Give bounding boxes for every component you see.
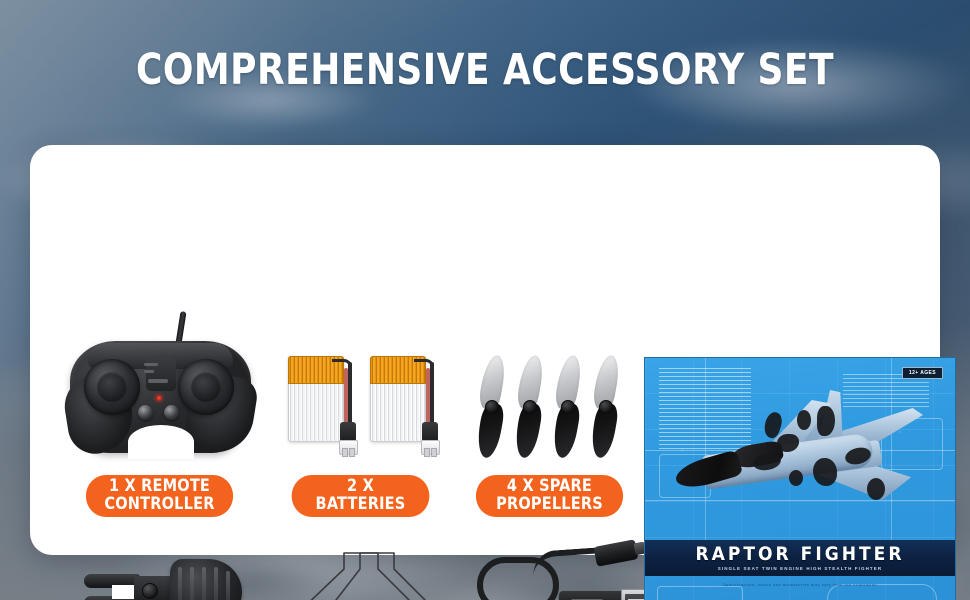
propeller-unit	[554, 355, 582, 455]
camo-patch	[789, 470, 803, 486]
battery-unit	[288, 350, 350, 442]
jet-illustration	[669, 382, 931, 542]
micro-usb-connector-icon	[593, 539, 638, 567]
controller-marking	[144, 370, 154, 373]
controller-button	[164, 405, 179, 420]
power-led-icon	[156, 395, 162, 401]
camo-patch	[813, 458, 837, 486]
changer-ridge	[214, 567, 218, 600]
battery-wire-black	[348, 362, 352, 426]
propeller-icon	[478, 355, 628, 460]
age-badge: 12+ AGES	[902, 367, 943, 379]
battery-icon	[288, 350, 443, 460]
changer-ridge	[178, 567, 182, 600]
camo-patch	[797, 410, 811, 430]
thumbstick-left	[84, 359, 140, 415]
thumbstick-texture	[198, 380, 215, 394]
battery-plug-body	[340, 422, 356, 442]
controller-bottom-notch	[128, 425, 194, 459]
label-line-2: BATTERIES	[316, 496, 406, 514]
thumbstick-texture	[104, 380, 121, 394]
propeller-changer-icon	[82, 555, 247, 600]
propeller-unit	[478, 355, 506, 455]
box-tagline: SINGLE SEAT TWIN ENGINE HIGH STEALTH FIG…	[718, 567, 882, 572]
battery-plug-body	[422, 422, 438, 442]
label-spare-propellers: 4 X SPARE PROPELLERS	[476, 475, 623, 517]
accessory-card: 1 X REMOTE CONTROLLER 2 X BATTERIES	[30, 145, 940, 555]
camo-patch	[867, 478, 885, 500]
propeller-hub	[561, 400, 575, 414]
takeoff-stand-wireframe	[282, 543, 452, 600]
packaging-box-icon: 12+ AGES	[644, 357, 956, 600]
label-batteries: 2 X BATTERIES	[292, 475, 430, 517]
changer-ridge	[202, 567, 206, 600]
battery-wire-black	[430, 362, 434, 426]
propeller-hub	[523, 400, 537, 414]
propeller-hub	[485, 400, 499, 414]
page-title: COMPREHENSIVE ACCESSORY SET	[34, 45, 936, 95]
box-front-face: 12+ AGES	[644, 357, 956, 600]
propeller-unit	[516, 355, 544, 455]
box-fineprint: Specifications, colors and accessories m…	[645, 582, 955, 587]
controller-marking	[148, 379, 168, 383]
changer-pivot	[142, 583, 158, 599]
thumbstick-right	[178, 359, 234, 415]
propeller-hub	[599, 400, 613, 414]
battery-unit	[370, 350, 432, 442]
label-line-2: CONTROLLER	[104, 496, 214, 514]
label-line-2: PROPELLERS	[496, 496, 603, 514]
controller-button	[138, 405, 153, 420]
box-product-name: RAPTOR FIGHTER	[695, 545, 904, 564]
battery-connector	[421, 440, 440, 455]
changer-ridge	[190, 567, 194, 600]
label-remote-controller: 1 X REMOTE CONTROLLER	[86, 475, 233, 517]
propeller-unit	[592, 355, 620, 455]
blueprint-shape	[657, 586, 743, 600]
box-title-band: RAPTOR FIGHTER SINGLE SEAT TWIN ENGINE H…	[645, 540, 955, 576]
takeoff-stand-icon	[282, 543, 452, 600]
changer-ridge	[226, 571, 230, 600]
controller-marking	[144, 363, 158, 366]
usb-cable-icon	[475, 537, 645, 600]
remote-controller-icon	[68, 313, 253, 465]
battery-connector	[339, 440, 358, 455]
